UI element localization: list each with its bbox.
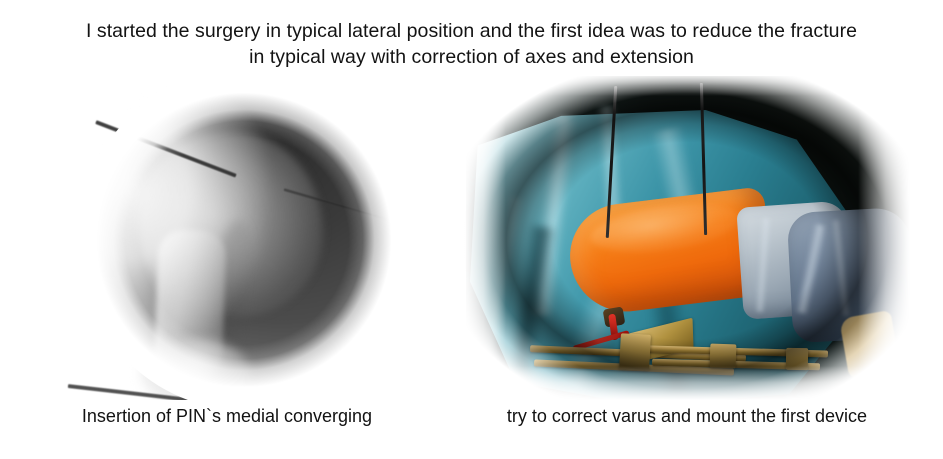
intraoperative-photo-caption: try to correct varus and mount the first… <box>452 404 922 428</box>
photo-edge-fade-left <box>452 76 506 406</box>
fluoroscopy-image <box>52 80 402 400</box>
intraoperative-photo-figure <box>452 76 922 406</box>
intraoperative-photo <box>452 76 922 406</box>
fluoroscopy-caption: Insertion of PIN`s medial converging <box>52 404 402 428</box>
photo-vignette <box>452 76 922 406</box>
photo-edge-fade-bottom <box>452 366 922 406</box>
fluoroscopy-figure <box>52 80 402 400</box>
photo-edge-fade-top <box>452 76 922 96</box>
slide-title: I started the surgery in typical lateral… <box>60 18 883 70</box>
fluoroscopy-edge-feather <box>78 80 402 400</box>
photo-edge-fade-right <box>858 76 922 406</box>
